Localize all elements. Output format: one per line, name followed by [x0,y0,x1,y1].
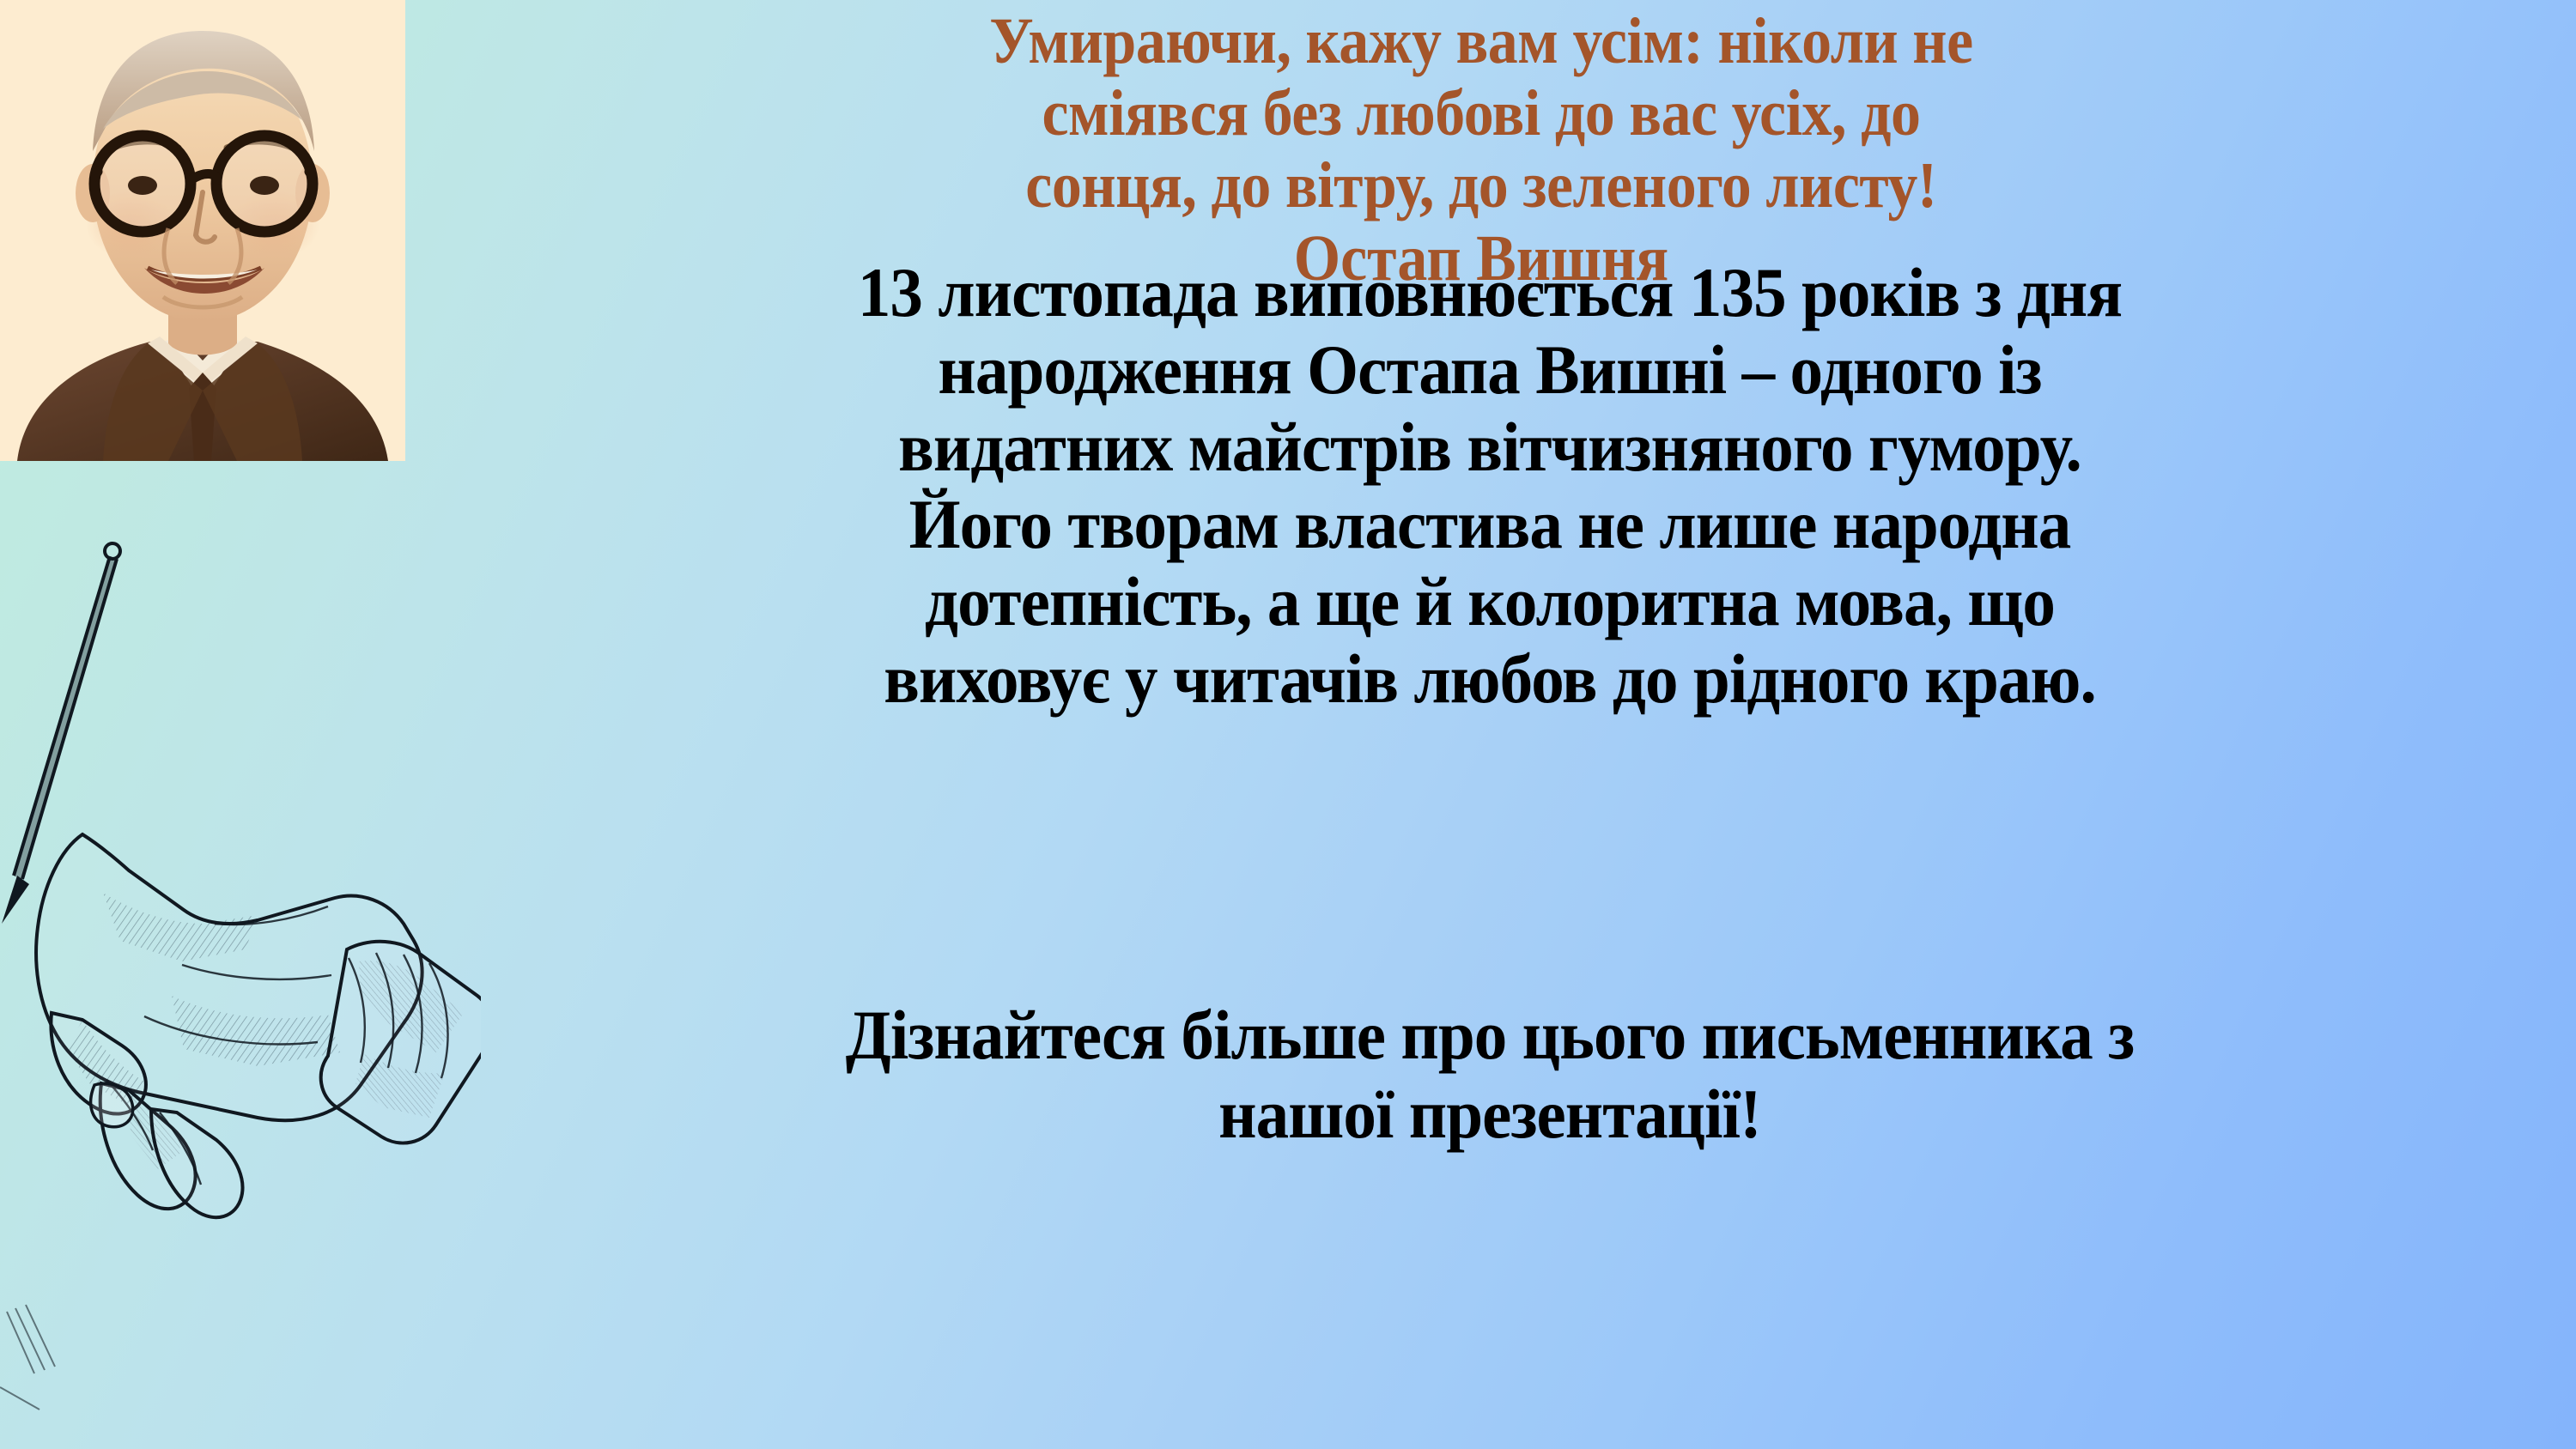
body-line-4: Його творам властива не лише народна [477,486,2502,563]
text-column: Умираючи, кажу вам усім: ніколи не смiяв… [412,0,2576,1449]
cta-line-1: Дiзнайтеся бiльше про цього письменника … [477,996,2502,1075]
hand-with-pen-engraving [0,446,481,1449]
quote-line-1: Умираючи, кажу вам усім: ніколи не [498,5,2465,77]
quote-line-2: смiявся без любовi до вас усiх, до [498,77,2465,149]
body-line-1: 13 листопада виповнюється 135 рокiв з дн… [477,254,2502,331]
poster-slide: Умираючи, кажу вам усім: ніколи не смiяв… [0,0,2576,1449]
quote-block: Умираючи, кажу вам усім: ніколи не смiяв… [412,5,2550,295]
cta-line-2: нашої презентацiї! [477,1075,2502,1154]
call-to-action-block: Дiзнайтеся бiльше про цього письменника … [412,996,2567,1154]
quote-line-3: сонця, до вiтру, до зеленого листу! [498,149,2465,221]
body-line-6: виховує у читачiв любов до рiдного краю. [477,640,2502,718]
body-block: 13 листопада виповнюється 135 рокiв з дн… [412,254,2567,718]
body-line-3: видатних майстрiв вiтчизняного гумору. [477,409,2502,486]
body-line-2: народження Остапа Вишнi – одного iз [477,331,2502,409]
portrait-ostap-vyshnia [0,0,405,461]
body-line-5: дотепнiсть, а ще й колоритна мова, що [477,563,2502,640]
